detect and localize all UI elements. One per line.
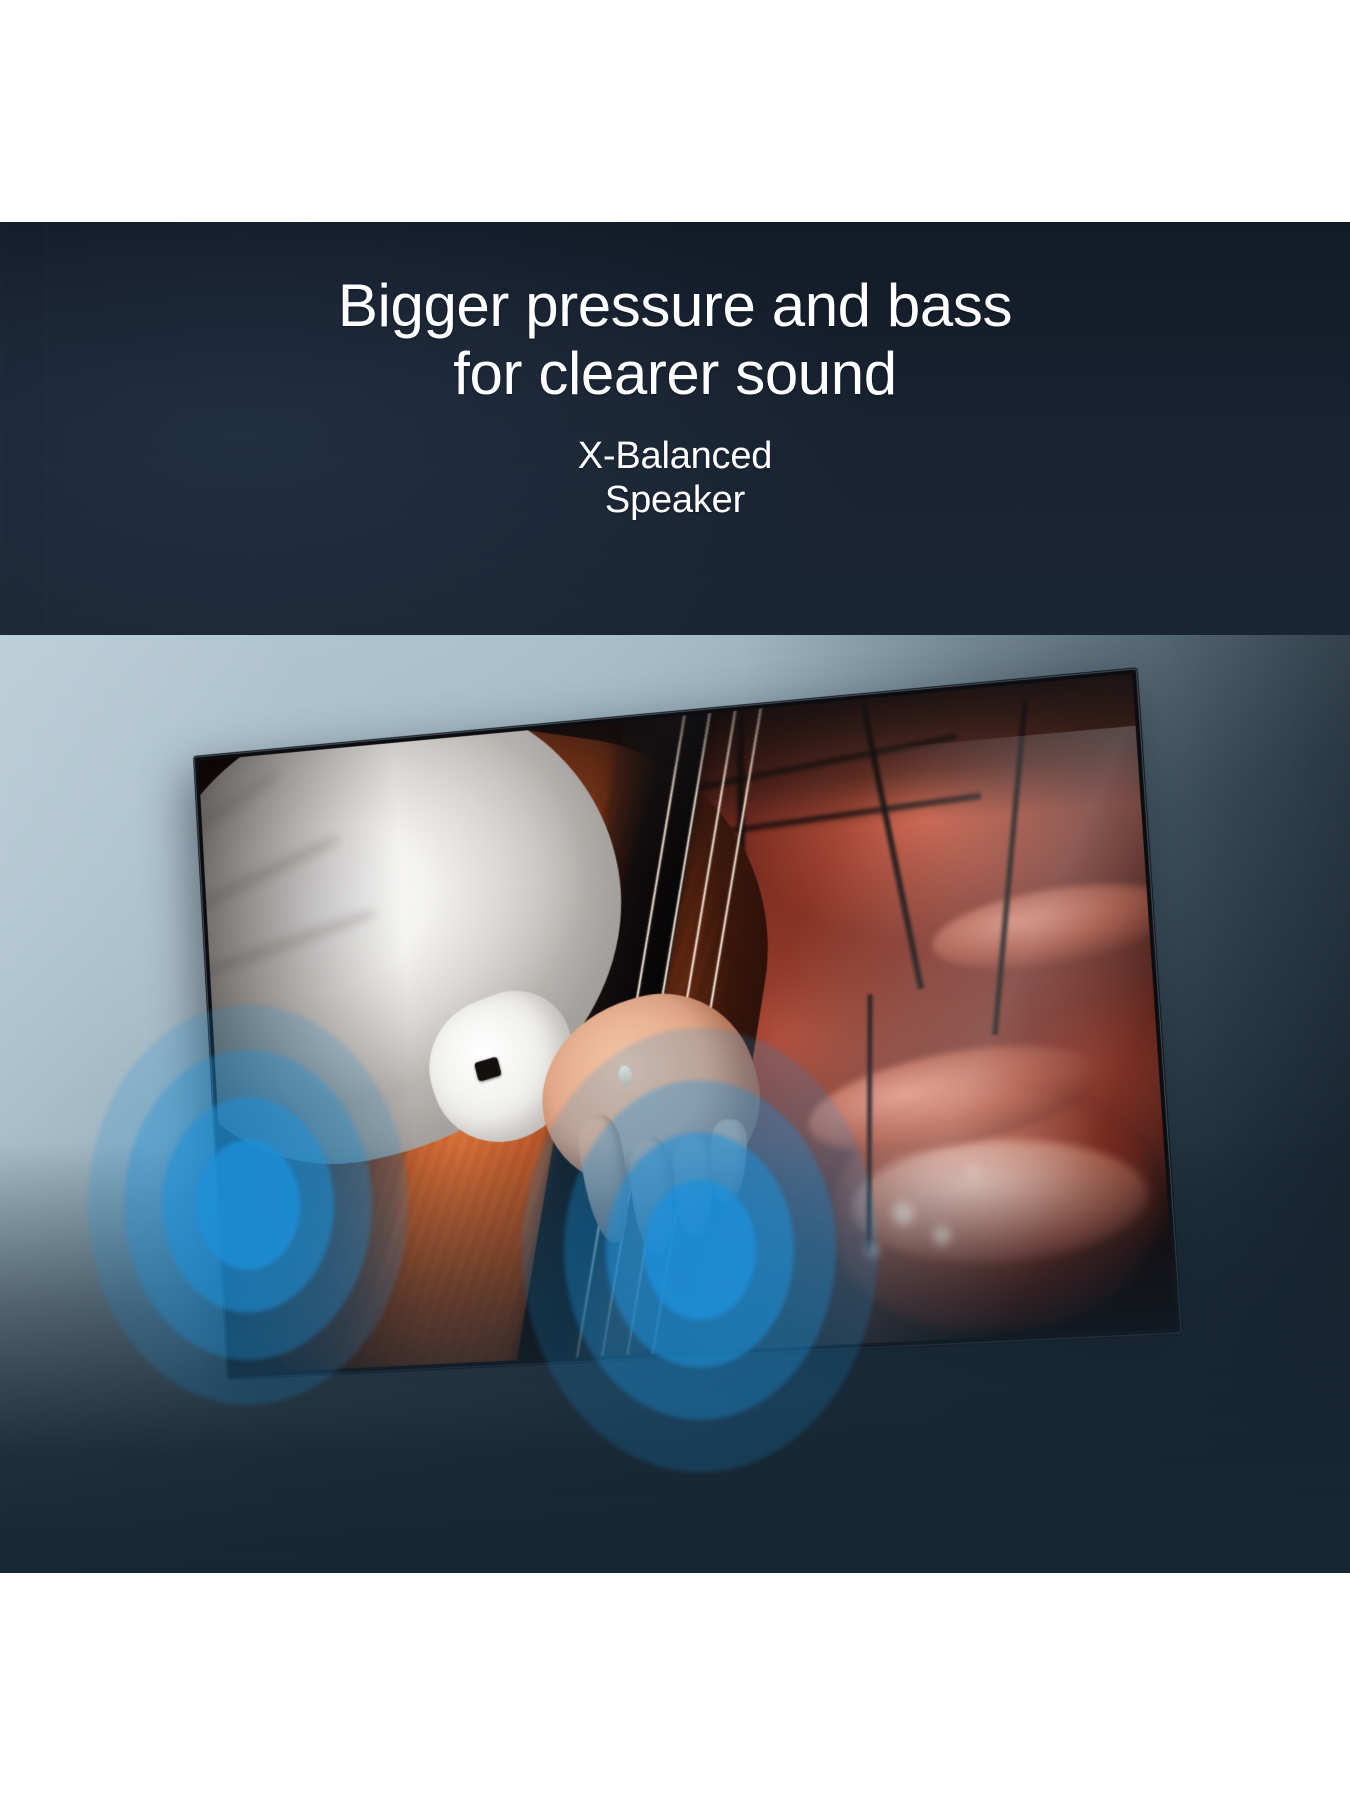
hero-image: [0, 635, 1350, 1573]
page-title: Bigger pressure and bass for clearer sou…: [338, 272, 1012, 408]
top-white-gutter: [0, 0, 1350, 222]
promo-page: Bigger pressure and bass for clearer sou…: [0, 0, 1350, 1800]
headline-banner-content: Bigger pressure and bass for clearer sou…: [0, 222, 1350, 635]
floor-gradient: [0, 1143, 1350, 1573]
sleeve-fold: [198, 827, 345, 934]
bottom-white-gutter: [0, 1573, 1350, 1800]
feature-subtitle: X-Balanced Speaker: [578, 434, 772, 524]
headline-banner: Bigger pressure and bass for clearer sou…: [0, 222, 1350, 635]
sleeve-fold: [198, 902, 380, 984]
